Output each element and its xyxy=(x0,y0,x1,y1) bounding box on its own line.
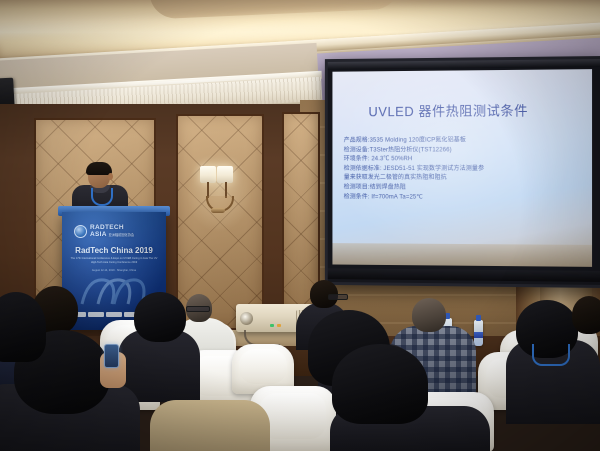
projector-power-led xyxy=(270,324,274,327)
slide-line: 检测依据标准: JESD51-51 实现数学测试方法测量参 xyxy=(344,164,586,174)
event-subtitle: The 17th International Conference & Expo… xyxy=(68,257,160,264)
screen-top-bar xyxy=(328,59,600,70)
slide-line: 产品规格:3535 Molding 120度ICP氮化铝基板 xyxy=(344,135,586,145)
presenter-ear xyxy=(108,173,113,180)
lanyard xyxy=(532,344,570,366)
projector-lens xyxy=(240,312,253,325)
sconce-shade-right xyxy=(217,166,233,183)
screen-lower-blank-area xyxy=(332,243,592,267)
slide-body: 产品规格:3535 Molding 120度ICP氮化铝基板 检测设备:T3St… xyxy=(344,135,586,202)
presenter-lanyard xyxy=(91,188,113,206)
audience-head xyxy=(134,292,186,342)
event-title: RadTech China 2019 xyxy=(62,246,166,255)
projector-status-led xyxy=(277,324,281,327)
slide-line: 检测设备:T3Ster热阻分析仪(TST12266) xyxy=(344,145,586,155)
radtech-logo: RADTECH ASIA 亚洲辐射固化协会 xyxy=(74,224,154,239)
logo-wordmark: RADTECH ASIA 亚洲辐射固化协会 xyxy=(90,225,134,238)
water-bottle xyxy=(474,320,483,346)
slide-line: 量来获取发光二极管的真实热阻和阻抗 xyxy=(344,173,586,183)
slide-line: 检测条件: If=700mA Ta=25℃ xyxy=(344,192,586,202)
projection-screen: UVLED 器件热阻测试条件 产品规格:3535 Molding 120度ICP… xyxy=(325,56,600,288)
conference-room-photo: UVLED 器件热阻测试条件 产品规格:3535 Molding 120度ICP… xyxy=(0,0,600,451)
slide-title: UVLED 器件热阻测试条件 xyxy=(368,100,528,121)
presentation-slide: UVLED 器件热阻测试条件 产品规格:3535 Molding 120度ICP… xyxy=(332,69,592,255)
sconce-shade-left xyxy=(200,166,216,183)
logo-line1: RADTECH xyxy=(90,224,124,231)
sconce-backplate xyxy=(211,208,225,213)
screen-surface: UVLED 器件热阻测试条件 产品规格:3535 Molding 120度ICP… xyxy=(332,69,592,267)
wall-sconce xyxy=(200,166,236,218)
audience-head-foreground xyxy=(332,344,428,424)
eyeglasses xyxy=(186,306,210,312)
smartphone[interactable] xyxy=(104,344,119,368)
audience-head xyxy=(572,296,600,334)
slide-line: 环境条件: 24.3℃ 50%RH xyxy=(344,154,586,164)
logo-line2: ASIA xyxy=(90,231,107,238)
audience-head xyxy=(412,298,446,332)
logo-line2-sub: 亚洲辐射固化协会 xyxy=(109,233,135,237)
audience-torso-foreground xyxy=(150,400,270,451)
slide-line: 检测项目:结到焊盘热阻 xyxy=(344,183,586,193)
eyeglasses xyxy=(328,294,348,300)
globe-icon xyxy=(74,225,87,238)
sponsor-logo xyxy=(106,312,122,317)
screen-bottom-bar xyxy=(328,268,600,282)
sponsor-logo xyxy=(88,312,104,317)
event-date: August 12-14, 2019 · Shanghai, China xyxy=(68,269,160,272)
